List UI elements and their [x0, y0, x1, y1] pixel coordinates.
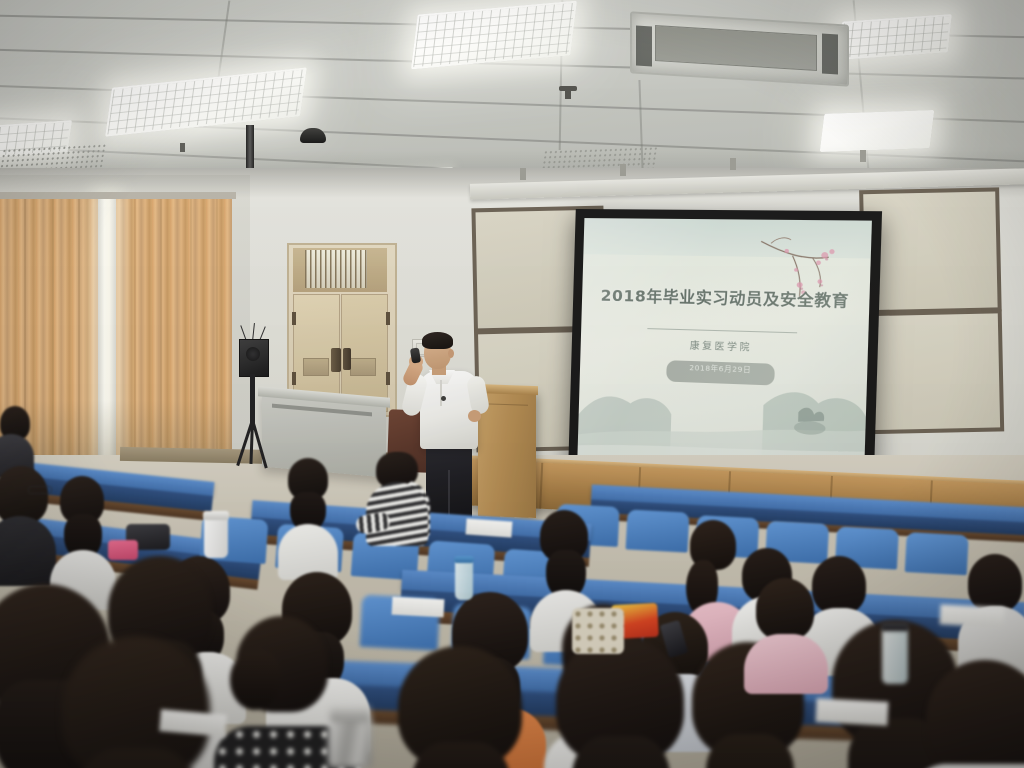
lecture-hall-photo: 2018年毕业实习动员及安全教育 康复医学院 2018年6月29日 [0, 0, 1024, 768]
curtain-rod [0, 192, 236, 199]
door-kick-panel [303, 358, 329, 376]
bottle-cap [454, 556, 474, 563]
air-conditioner-vent [636, 26, 652, 67]
air-conditioner-vent [822, 34, 838, 75]
presenter-hair [422, 332, 453, 349]
water-bottle [455, 560, 473, 600]
screen-glare [577, 218, 872, 473]
ceiling-light-fixture [838, 14, 952, 60]
transom-bars [305, 250, 367, 288]
bottle-cap [881, 622, 909, 631]
thermos-cap [330, 706, 370, 722]
door-handle[interactable] [331, 348, 341, 372]
presenter-right-hand [468, 410, 481, 422]
thermos-flask [328, 716, 372, 768]
eyeglasses-icon [28, 486, 52, 494]
wall-panel [862, 309, 1005, 434]
presenter-shirt-button [441, 396, 446, 401]
speaker-cone [246, 347, 260, 361]
notebook [392, 597, 445, 618]
thermos-flask [204, 516, 228, 558]
ceiling-light-fixture [820, 110, 935, 152]
door-kick-panel [350, 358, 376, 376]
sprinkler-icon [180, 143, 185, 152]
sprinkler-stem [565, 88, 571, 99]
projection-screen: 2018年毕业实习动员及安全教育 康复医学院 2018年6月29日 [568, 209, 882, 483]
handbag [572, 608, 624, 654]
security-camera-icon [300, 128, 326, 143]
thermos-cap [203, 511, 229, 520]
presenter-ear [448, 349, 454, 358]
notebook [815, 698, 888, 726]
projected-slide: 2018年毕业实习动员及安全教育 康复医学院 2018年6月29日 [577, 218, 872, 473]
notebook [465, 518, 512, 537]
presenter-placket [440, 380, 442, 406]
handbag [108, 540, 138, 560]
notebook [940, 604, 1005, 627]
water-bottle [882, 628, 908, 684]
door-handle[interactable] [343, 348, 351, 370]
